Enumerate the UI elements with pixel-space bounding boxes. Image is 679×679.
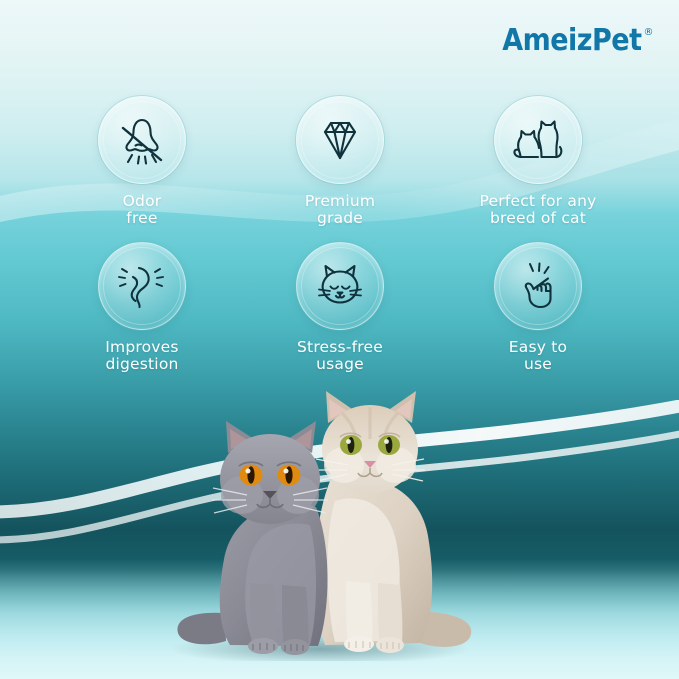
feature-premium-grade: Premium grade <box>246 96 434 242</box>
feature-label: Premium grade <box>305 193 375 227</box>
feature-grid: Odor free Premium grade <box>48 96 632 388</box>
feature-icon-circle <box>494 96 582 184</box>
two-cats-icon <box>508 112 568 168</box>
feature-label: Odor free <box>123 193 162 227</box>
nose-no-smell-icon <box>114 112 170 168</box>
cats-photo <box>120 361 520 661</box>
feature-icon-circle <box>296 242 384 330</box>
feature-icon-circle <box>98 242 186 330</box>
cat-face-happy-icon <box>310 258 370 314</box>
registered-trademark-icon: ® <box>644 27 654 38</box>
diamond-icon <box>312 112 368 168</box>
tapping-hand-icon <box>510 258 566 314</box>
feature-icon-circle <box>494 242 582 330</box>
stomach-icon <box>113 258 171 314</box>
cat-grey <box>177 421 328 655</box>
feature-label: Perfect for any breed of cat <box>480 193 597 227</box>
feature-any-breed: Perfect for any breed of cat <box>444 96 632 242</box>
feature-icon-circle <box>296 96 384 184</box>
brand-name: AmeizPet <box>502 26 641 56</box>
product-infographic: AmeizPet ® Odor free <box>0 0 679 679</box>
feature-odor-free: Odor free <box>48 96 236 242</box>
cat-cream <box>315 391 471 653</box>
feature-icon-circle <box>98 96 186 184</box>
brand-logo: AmeizPet ® <box>502 26 653 56</box>
